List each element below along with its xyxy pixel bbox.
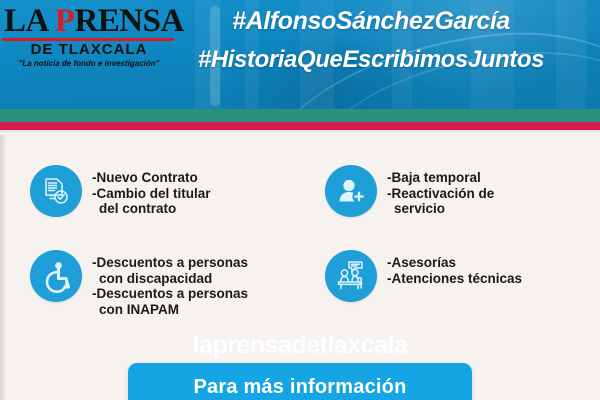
service-item: -Descuentos a personas con discapacidad …	[30, 250, 315, 317]
service-line: -Baja temporal	[387, 170, 494, 186]
service-item: -Baja temporal -Reactivación de servicio	[325, 165, 595, 217]
divider-stripe-crimson	[0, 122, 600, 130]
site-watermark: laprensadetlaxcala	[0, 331, 600, 360]
service-line: con discapacidad	[92, 271, 248, 287]
service-line: del contrato	[92, 201, 211, 217]
services-panel: -Nuevo Contrato -Cambio del titular del …	[0, 135, 600, 400]
logo-wordmark-accent: P	[55, 3, 75, 39]
service-line: -Atenciones técnicas	[387, 271, 522, 287]
wheelchair-accessibility-icon	[30, 250, 82, 302]
hashtag-secondary: #HistoriaQueEscribimosJuntos	[148, 44, 594, 76]
service-line: -Asesorías	[387, 255, 522, 271]
mas-informacion-label: Para más información	[194, 376, 407, 399]
hashtag-primary: #AlfonsoSánchezGarcía	[148, 5, 594, 37]
service-item: -Nuevo Contrato -Cambio del titular del …	[30, 165, 310, 217]
service-line: servicio	[387, 201, 494, 217]
service-text: -Asesorías -Atenciones técnicas	[387, 250, 522, 286]
service-text: -Baja temporal -Reactivación de servicio	[387, 165, 494, 217]
logo-wordmark-prefix: LA	[4, 3, 55, 39]
mas-informacion-button[interactable]: Para más información	[128, 363, 472, 400]
service-item: -Asesorías -Atenciones técnicas	[325, 250, 595, 302]
document-check-icon	[30, 165, 82, 217]
service-line: -Descuentos a personas	[92, 255, 248, 271]
divider-stripe-teal	[0, 109, 600, 122]
hashtag-block: #AlfonsoSánchezGarcía #HistoriaQueEscrib…	[148, 5, 594, 76]
poster-root: LA PRENSA DE TLAXCALA "La noticia de fon…	[0, 0, 600, 400]
service-text: -Descuentos a personas con discapacidad …	[92, 250, 248, 317]
consultation-desk-icon	[325, 250, 377, 302]
service-line: -Descuentos a personas	[92, 286, 248, 302]
service-line: -Reactivación de	[387, 186, 494, 202]
service-line: -Cambio del titular	[92, 186, 211, 202]
header-banner: LA PRENSA DE TLAXCALA "La noticia de fon…	[0, 0, 600, 109]
user-add-icon	[325, 165, 377, 217]
service-line: -Nuevo Contrato	[92, 170, 211, 186]
service-text: -Nuevo Contrato -Cambio del titular del …	[92, 165, 211, 217]
service-line: con INAPAM	[92, 302, 248, 318]
